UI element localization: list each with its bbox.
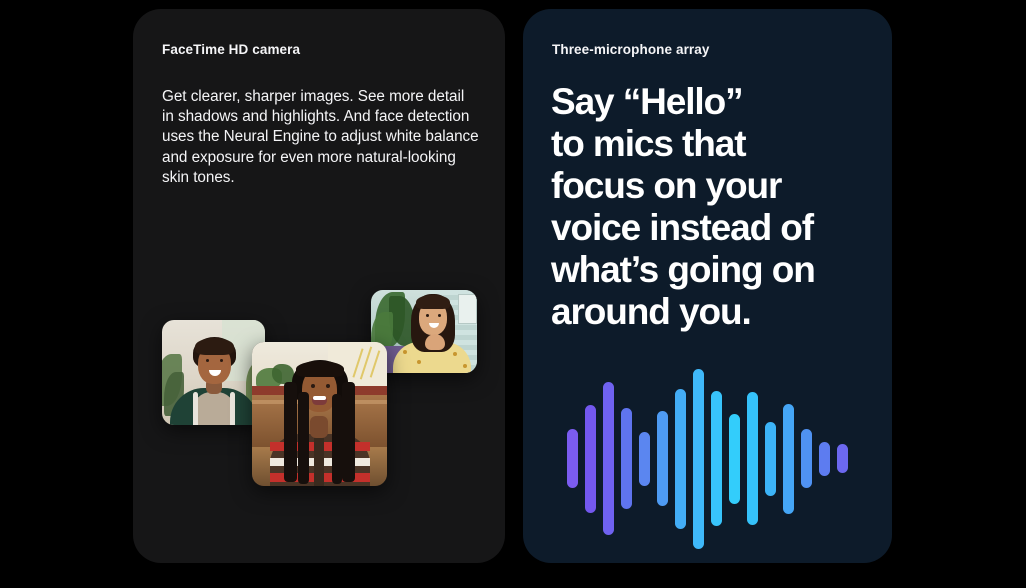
facetime-camera-card[interactable]: FaceTime HD camera Get clearer, sharper … — [133, 9, 505, 563]
waveform-bar — [711, 391, 722, 526]
waveform-bar — [639, 432, 650, 486]
waveform-bar — [675, 389, 686, 529]
headline-line: Say “Hello” — [551, 81, 881, 123]
waveform-bar — [657, 411, 668, 506]
facetime-call-tiles — [133, 9, 505, 563]
headline-line: what’s going on — [551, 249, 881, 291]
waveform-bar — [621, 408, 632, 509]
waveform-bar — [693, 369, 704, 549]
headline-line: around you. — [551, 291, 881, 333]
waveform-bar — [765, 422, 776, 496]
microphone-card-headline: Say “Hello” to mics that focus on your v… — [551, 81, 881, 333]
waveform-bar — [819, 442, 830, 476]
waveform-bar — [603, 382, 614, 535]
waveform-bar — [801, 429, 812, 488]
waveform-bar — [747, 392, 758, 525]
waveform-bar — [837, 444, 848, 473]
participant-tile-left[interactable] — [162, 320, 265, 425]
waveform-bar — [729, 414, 740, 504]
microphone-card-eyebrow: Three-microphone array — [552, 42, 710, 57]
screenshot-root: FaceTime HD camera Get clearer, sharper … — [0, 0, 1026, 588]
waveform-bar — [567, 429, 578, 488]
microphone-array-card[interactable]: Three-microphone array Say “Hello” to mi… — [523, 9, 892, 563]
headline-line: voice instead of — [551, 207, 881, 249]
waveform-bar — [783, 404, 794, 514]
headline-line: to mics that — [551, 123, 881, 165]
headline-line: focus on your — [551, 165, 881, 207]
participant-tile-center[interactable] — [252, 342, 387, 486]
waveform-bar — [585, 405, 596, 513]
audio-waveform-chart — [567, 369, 852, 549]
tile-center-scene — [252, 342, 387, 486]
tile-left-scene — [162, 320, 265, 425]
